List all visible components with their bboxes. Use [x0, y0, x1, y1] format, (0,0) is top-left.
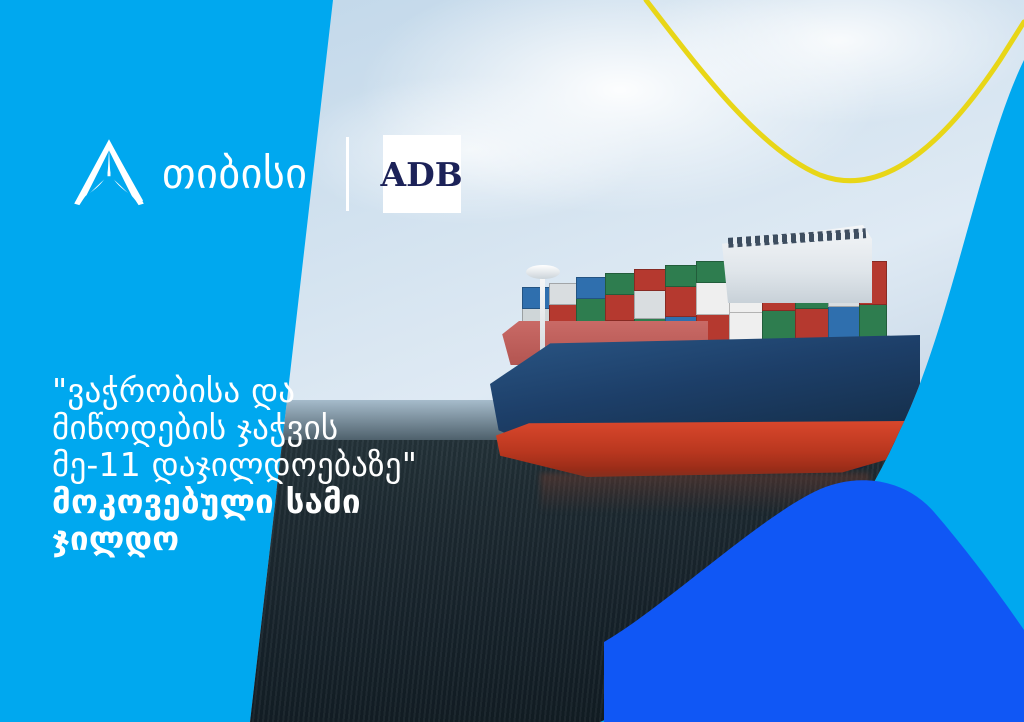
- shipping-container: [605, 293, 635, 321]
- shipping-container: [634, 269, 666, 291]
- container-ship: [470, 225, 940, 525]
- mast-platform: [526, 265, 560, 279]
- headline-line-3: მე-11 დაჯილდოებაზე": [52, 446, 522, 483]
- adb-logo: ADB: [383, 135, 461, 213]
- headline-line-2: მიწოდების ჯაჭვის: [52, 409, 522, 446]
- shipping-container: [522, 287, 550, 309]
- promo-banner: თიბისი ADB "ვაჭრობისა დამიწოდების ჯაჭვის…: [0, 0, 1024, 722]
- shipping-container: [576, 277, 606, 299]
- tbc-triangle-icon: [72, 137, 146, 211]
- shipping-container: [634, 289, 666, 319]
- headline-block: "ვაჭრობისა დამიწოდების ჯაჭვისმე-11 დაჯილ…: [52, 372, 522, 557]
- adb-wordmark: ADB: [380, 158, 462, 191]
- shipping-container: [576, 297, 606, 323]
- headline-line-1: "ვაჭრობისა და: [52, 372, 522, 409]
- shipping-container: [605, 273, 635, 295]
- shipping-container: [665, 265, 697, 287]
- shipping-container: [549, 283, 577, 305]
- logo-divider: [346, 137, 349, 211]
- shipping-container: [665, 285, 697, 317]
- logo-lockup: თიბისი ADB: [72, 128, 461, 220]
- shipping-container: [696, 281, 730, 315]
- headline-line-4: მოკოვებული სამი: [52, 483, 522, 520]
- hull-waterline: [496, 421, 908, 477]
- tbc-wordmark: თიბისი: [162, 153, 308, 195]
- headline-line-5: ჯილდო: [52, 520, 522, 557]
